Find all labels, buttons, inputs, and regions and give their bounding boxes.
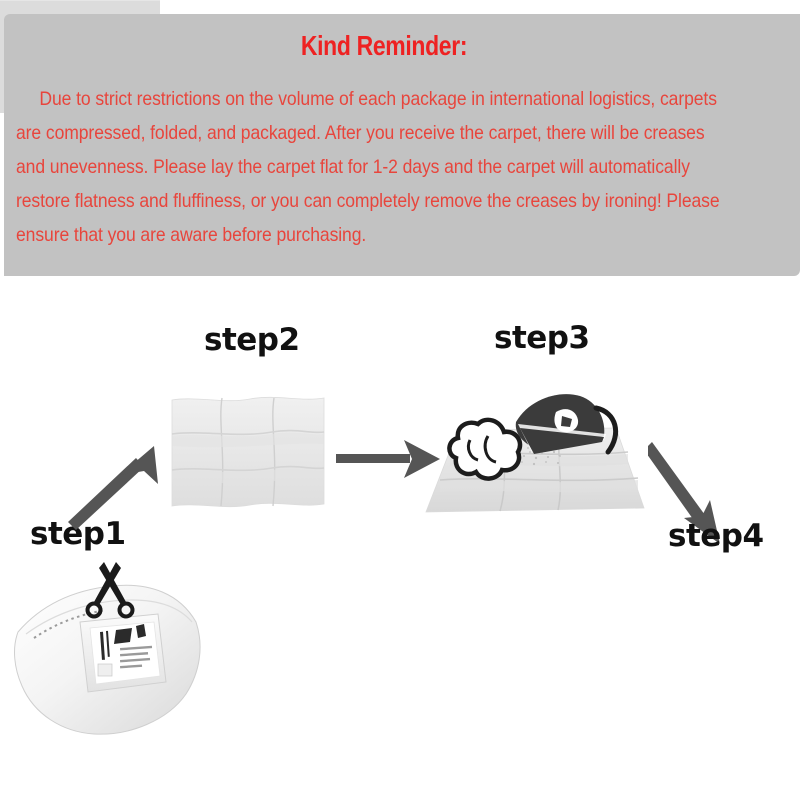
step2-label: step2 (204, 322, 300, 358)
folded-carpet-illustration (168, 392, 328, 512)
step3-label: step3 (494, 320, 590, 356)
reminder-body-text: Due to strict restrictions on the volume… (16, 82, 727, 252)
reminder-banner: Kind Reminder: Due to strict restriction… (4, 14, 800, 276)
package-illustration (8, 560, 208, 745)
step4-label: step4 (668, 518, 764, 554)
shipping-label (80, 614, 166, 692)
reminder-title: Kind Reminder: (72, 30, 695, 62)
ironing-illustration (420, 378, 650, 533)
mailer-bag (15, 585, 201, 734)
arrow-step1-to-step2 (62, 440, 172, 530)
